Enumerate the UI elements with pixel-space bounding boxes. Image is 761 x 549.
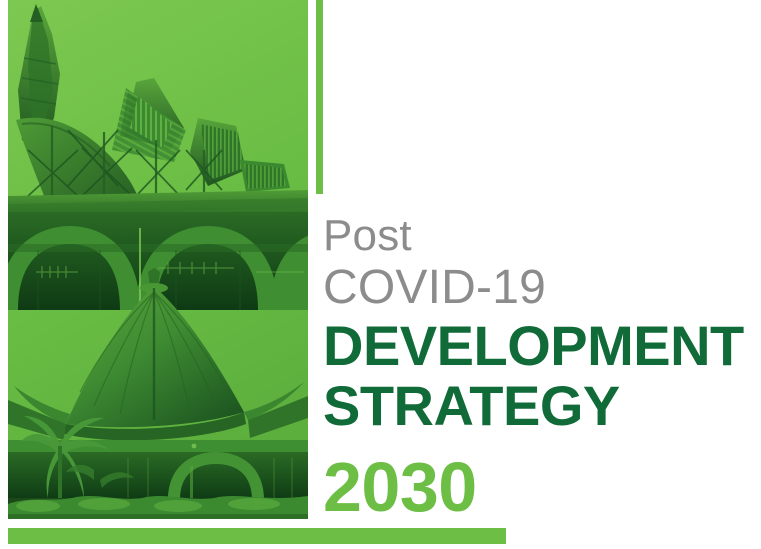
- cover-title-line-1: DEVELOPMENT: [323, 316, 743, 376]
- cover-photo: [8, 0, 308, 519]
- cover-year: 2030: [323, 450, 743, 524]
- vertical-accent-bar: [316, 0, 323, 194]
- bottom-accent-bar: [8, 528, 506, 544]
- cover-title-block: Post COVID-19 DEVELOPMENT STRATEGY 2030: [323, 212, 743, 524]
- cover-subject: COVID-19: [323, 260, 743, 316]
- cover-eyebrow: Post: [323, 212, 743, 260]
- legislative-assembly-illustration: [8, 0, 308, 519]
- cover-title-line-2: STRATEGY: [323, 376, 743, 436]
- report-cover-page: Post COVID-19 DEVELOPMENT STRATEGY 2030: [0, 0, 761, 549]
